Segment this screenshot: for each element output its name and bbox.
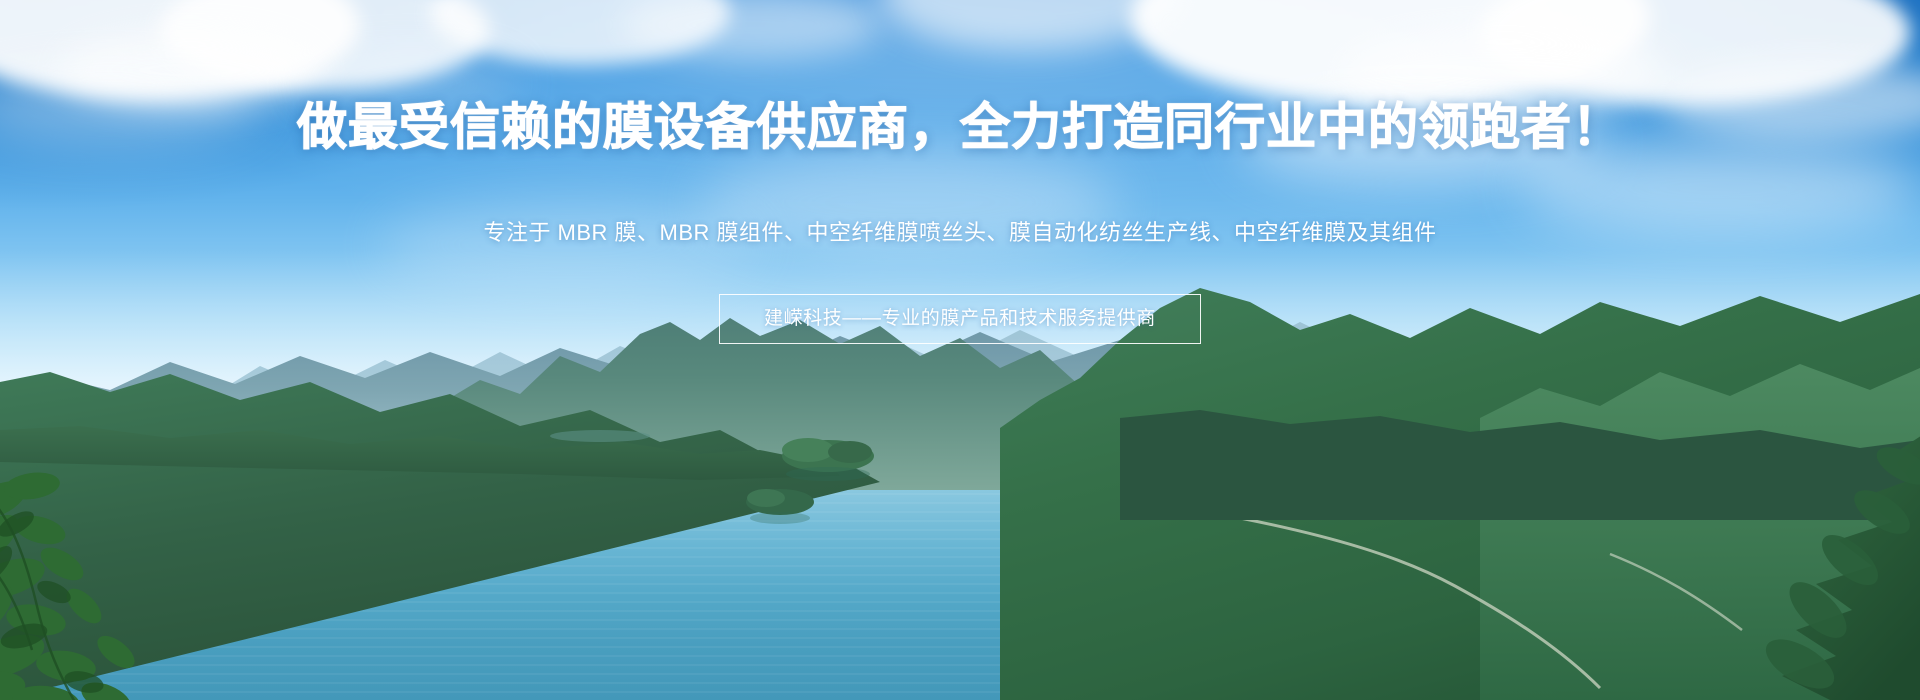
banner-subtitle: 专注于 MBR 膜、MBR 膜组件、中空纤维膜喷丝头、膜自动化纺丝生产线、中空纤… <box>0 216 1920 250</box>
banner-headline: 做最受信赖的膜设备供应商，全力打造同行业中的领跑者！ <box>0 96 1920 158</box>
banner-tagline-wrapper: 建嵘科技——专业的膜产品和技术服务提供商 <box>0 294 1920 344</box>
hero-banner: 做最受信赖的膜设备供应商，全力打造同行业中的领跑者！ 专注于 MBR 膜、MBR… <box>0 0 1920 700</box>
banner-tagline-box: 建嵘科技——专业的膜产品和技术服务提供商 <box>719 294 1201 344</box>
banner-content: 做最受信赖的膜设备供应商，全力打造同行业中的领跑者！ 专注于 MBR 膜、MBR… <box>0 0 1920 700</box>
